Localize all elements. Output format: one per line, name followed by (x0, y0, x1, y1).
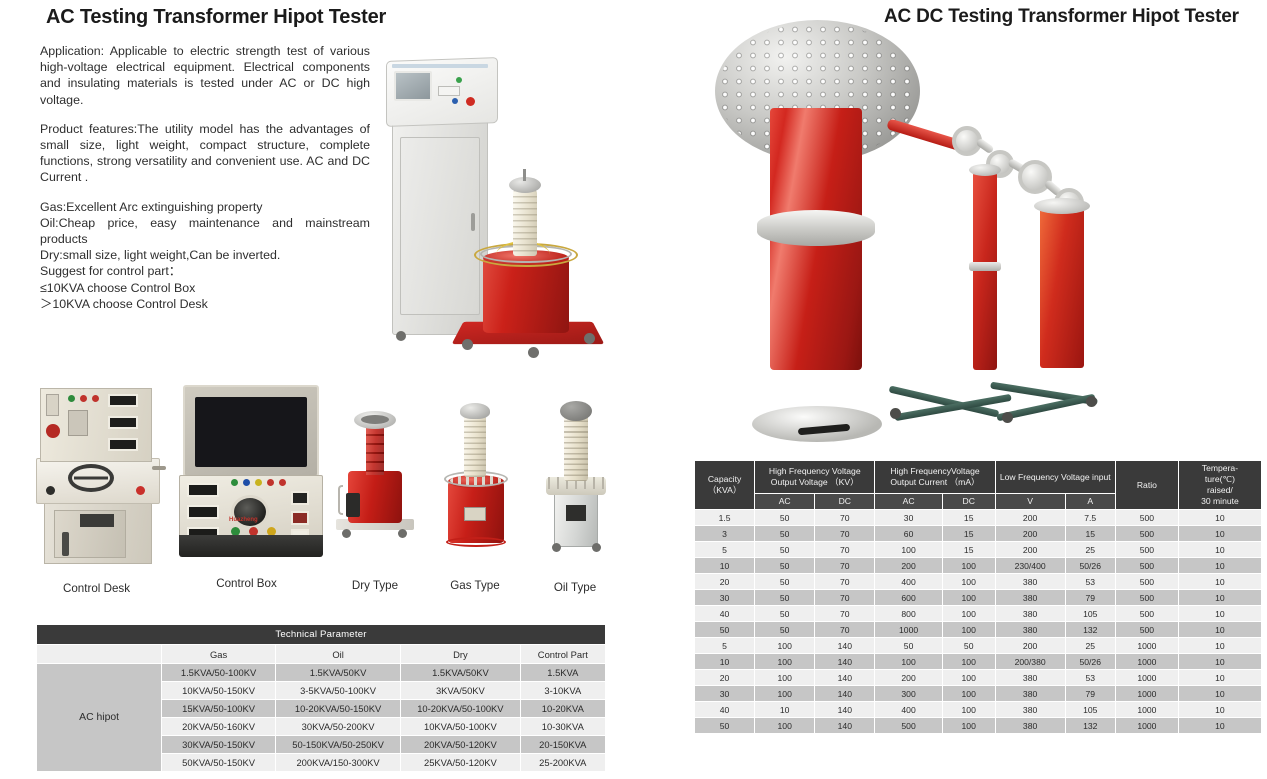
table-cell: 380 (995, 718, 1065, 734)
table-row: 3050706001003807950010 (695, 590, 1262, 606)
table-cell: 1000 (1115, 638, 1178, 654)
table-cell: 5 (695, 542, 755, 558)
table-cell: 1.5 (695, 510, 755, 526)
table-cell: 100 (942, 558, 995, 574)
table-cell: 800 (875, 606, 942, 622)
table-cell: 100 (875, 654, 942, 670)
table-cell: 1000 (1115, 670, 1178, 686)
table-cell: 3KVA/50KV (401, 682, 520, 700)
table-cell: 30 (695, 686, 755, 702)
table-row: 1.5507030152007.550010 (695, 510, 1262, 526)
table-cell: 50 (755, 510, 815, 526)
table-cell: 500 (1115, 622, 1178, 638)
table-cell: 400 (875, 702, 942, 718)
table-banner-row: Technical Parameter (37, 625, 606, 645)
table-cell: 50 (755, 622, 815, 638)
table-cell: 1.5KVA/50KV (275, 664, 400, 682)
table-cell: 3-5KVA/50-100KV (275, 682, 400, 700)
table-cell: 20-150KVA (520, 736, 605, 754)
header-temp-line3: raised/ (1207, 485, 1233, 495)
console-emergency-stop (466, 97, 475, 106)
table-cell: 200 (995, 510, 1065, 526)
bullet-dry: Dry:small size, light weight,Can be inve… (40, 247, 370, 263)
table-cell: 10-20KVA/50-100KV (401, 700, 520, 718)
header-capacity: Capacity （KVA） (695, 461, 755, 510)
table-cell: 60 (875, 526, 942, 542)
trolley-caster (584, 333, 595, 344)
table-cell: 100 (942, 686, 995, 702)
table-cell: 140 (815, 686, 875, 702)
acdc-hero-photo (690, 12, 1267, 452)
desk-regulator-handwheel (68, 464, 114, 492)
transformer-terminal-pin (523, 169, 526, 181)
box-digital-meter (187, 483, 219, 497)
thumbnail-dry-type: Dry Type (332, 389, 418, 564)
table-cell: 100 (942, 574, 995, 590)
gas-bushing (464, 415, 486, 477)
sub-header-ac: AC (755, 494, 815, 510)
table-cell: 380 (995, 574, 1065, 590)
row-header-ac-hipot: AC hipot (37, 664, 162, 772)
desk-nameplate (80, 514, 114, 527)
table-cell: 7.5 (1065, 510, 1115, 526)
table-cell: 40 (695, 606, 755, 622)
table-cell: 25 (1065, 542, 1115, 558)
table-cell: 53 (1065, 574, 1115, 590)
table-cell: 10-30KVA (520, 718, 605, 736)
header-capacity-line1: Capacity (708, 474, 741, 484)
table-cell: 500 (1115, 558, 1178, 574)
table-cell: 1000 (1115, 654, 1178, 670)
table-cell: 1.5KVA/50-100KV (162, 664, 276, 682)
hero-product-photo (370, 45, 605, 370)
table-cell: 10 (1178, 606, 1261, 622)
desk-left-knob (46, 486, 55, 495)
table-cell: 50/26 (1065, 558, 1115, 574)
table-cell: 50 (755, 526, 815, 542)
console-title-strip (392, 64, 488, 68)
table-cell: 1.5KVA/50KV (401, 664, 520, 682)
gas-nameplate (464, 507, 486, 521)
desk-indicator-red (80, 395, 87, 402)
application-paragraph: Application: Applicable to electric stre… (40, 43, 370, 108)
desk-digital-meter (108, 394, 138, 407)
rectifier-stack-cap (969, 164, 1001, 176)
table-row: 4010140400100380105100010 (695, 702, 1262, 718)
table-row: AC hipot1.5KVA/50-100KV1.5KVA/50KV1.5KVA… (37, 664, 606, 682)
header-control-part: Control Part (520, 645, 605, 664)
table-cell: 100 (942, 622, 995, 638)
table-cell: 15 (942, 526, 995, 542)
table-cell: 1000 (1115, 686, 1178, 702)
table-cell: 100 (942, 718, 995, 734)
main-column-base (752, 406, 882, 442)
table-cell: 100 (755, 670, 815, 686)
desk-emergency-stop (46, 424, 60, 438)
frame-caster (890, 408, 901, 419)
table-cell: 200 (995, 638, 1065, 654)
trolley-caster (528, 347, 539, 358)
header-blank (37, 645, 162, 664)
spec-group-header-row: Capacity （KVA） High Frequency Voltage Ou… (695, 461, 1262, 494)
table-cell: 10 (1178, 670, 1261, 686)
table-cell: 10 (1178, 686, 1261, 702)
table-cell: 500 (1115, 526, 1178, 542)
dry-caster (342, 529, 351, 538)
table-row: 2010014020010038053100010 (695, 670, 1262, 686)
dry-carry-handle (338, 485, 343, 515)
box-indicator-green (231, 479, 238, 486)
header-gas: Gas (162, 645, 276, 664)
table-cell: 79 (1065, 686, 1115, 702)
console-screen (394, 71, 432, 101)
table-cell: 380 (995, 590, 1065, 606)
box-relay-module (291, 511, 309, 525)
thumbnail-control-box: Huazheng Control Box (169, 377, 324, 565)
table-cell: 10 (1178, 574, 1261, 590)
table-cell: 3 (695, 526, 755, 542)
table-cell: 15KVA/50-100KV (162, 700, 276, 718)
table-cell: 380 (995, 670, 1065, 686)
header-capacity-line2: （KVA） (708, 485, 742, 495)
table-cell: 10 (1178, 718, 1261, 734)
box-lid-interior (195, 397, 307, 467)
box-indicator-red (279, 479, 286, 486)
table-cell: 140 (815, 638, 875, 654)
table-cell: 15 (942, 510, 995, 526)
rectifier-stack-column (973, 172, 997, 370)
table-cell: 25-200KVA (520, 754, 605, 772)
table-cell: 70 (815, 510, 875, 526)
table-cell: 1000 (875, 622, 942, 638)
header-hf-voltage: High Frequency Voltage Output Voltage （K… (755, 461, 875, 494)
table-row: 50100140500100380132100010 (695, 718, 1262, 734)
table-row: 3010014030010038079100010 (695, 686, 1262, 702)
table-cell: 50 (755, 590, 815, 606)
frame-caster (1086, 396, 1097, 407)
dry-caster (398, 529, 407, 538)
bullet-control-desk: ＞10KVA choose Control Desk (40, 296, 370, 312)
table-row: 10100140100100200/38050/26100010 (695, 654, 1262, 670)
table-cell: 132 (1065, 718, 1115, 734)
trolley-caster (462, 339, 473, 350)
table-cell: 132 (1065, 622, 1115, 638)
table-cell: 300 (875, 686, 942, 702)
gas-base-ring (446, 537, 506, 547)
table-cell: 70 (815, 590, 875, 606)
frame-caster (1002, 412, 1013, 423)
table-row: 40507080010038010550010 (695, 606, 1262, 622)
sub-header-ac: AC (875, 494, 942, 510)
table-cell: 53 (1065, 670, 1115, 686)
dry-electrode-inner (361, 415, 389, 424)
table-cell: 70 (815, 574, 875, 590)
control-desk-handle (471, 213, 475, 231)
box-indicator-yellow (255, 479, 262, 486)
table-cell: 15 (1065, 526, 1115, 542)
table-cell: 100 (942, 702, 995, 718)
left-section-title: AC Testing Transformer Hipot Tester (46, 6, 386, 29)
table-cell: 10-20KVA/50-150KV (275, 700, 400, 718)
table-cell: 200 (995, 526, 1065, 542)
table-cell: 1.5KVA (520, 664, 605, 682)
header-temp-line4: 30 minute (1201, 496, 1239, 506)
table-cell: 3-10KVA (520, 682, 605, 700)
acdc-specification-body: 1.5507030152007.550010350706015200155001… (695, 510, 1262, 734)
bullet-suggest: Suggest for control part： (40, 263, 370, 279)
table-cell: 140 (815, 718, 875, 734)
table-cell: 380 (995, 702, 1065, 718)
table-cell: 10-20KVA (520, 700, 605, 718)
product-datasheet-page: AC Testing Transformer Hipot Tester Appl… (0, 0, 1267, 779)
header-temperature: Tempera- ture(℃) raised/ 30 minute (1178, 461, 1261, 510)
box-case-bottom (179, 535, 323, 557)
table-cell: 140 (815, 670, 875, 686)
oil-bushing (564, 415, 588, 481)
capacitor-column-cap (1034, 198, 1090, 214)
table-cell: 30KVA/50-150KV (162, 736, 276, 754)
product-thumbnail-strip: Control Desk Huazheng Control Box (14, 375, 614, 590)
table-cell: 200 (995, 542, 1065, 558)
box-brand-mark: Huazheng (229, 517, 258, 523)
transformer-tank (483, 257, 569, 333)
table-cell: 50 (875, 638, 942, 654)
oil-caster (592, 543, 601, 552)
table-cell: 79 (1065, 590, 1115, 606)
table-cell: 10 (695, 654, 755, 670)
table-cell: 100 (755, 686, 815, 702)
desk-indicator-green (68, 395, 75, 402)
table-cell: 10KVA/50-150KV (162, 682, 276, 700)
table-cell: 100 (875, 542, 942, 558)
desk-indicator-red (92, 395, 99, 402)
table-cell: 400 (875, 574, 942, 590)
table-cell: 20 (695, 670, 755, 686)
desk-side-handle (152, 466, 166, 470)
table-cell: 100 (755, 638, 815, 654)
table-cell: 10 (1178, 654, 1261, 670)
table-cell: 10 (1178, 638, 1261, 654)
table-cell: 50 (695, 622, 755, 638)
desk-door-slot (62, 532, 69, 556)
table-cell: 100 (755, 718, 815, 734)
main-column-grading-ring (757, 210, 875, 246)
table-cell: 70 (815, 526, 875, 542)
table-cell: 70 (815, 606, 875, 622)
table-cell: 230/400 (995, 558, 1065, 574)
table-cell: 70 (815, 558, 875, 574)
sub-header-dc: DC (815, 494, 875, 510)
header-hf-current: High FrequencyVoltage Output Current （mA… (875, 461, 995, 494)
table-cell: 100 (942, 590, 995, 606)
table-cell: 40 (695, 702, 755, 718)
table-cell: 500 (1115, 606, 1178, 622)
table-cell: 380 (995, 606, 1065, 622)
header-ratio: Ratio (1115, 461, 1178, 510)
table-cell: 10 (1178, 590, 1261, 606)
table-row: 3507060152001550010 (695, 526, 1262, 542)
transformer-bushing (513, 190, 537, 256)
table-cell: 50 (755, 558, 815, 574)
table-cell: 140 (815, 654, 875, 670)
header-lf-input: Low Frequency Voltage input (995, 461, 1115, 494)
header-temp-line2: ture(℃) (1205, 474, 1235, 484)
box-display-window (291, 491, 309, 505)
table-cell: 50 (755, 542, 815, 558)
technical-parameter-body: AC hipot1.5KVA/50-100KV1.5KVA/50KV1.5KVA… (37, 664, 606, 772)
table-cell: 100 (942, 670, 995, 686)
table-cell: 380 (995, 686, 1065, 702)
table-cell: 50KVA/50-150KV (162, 754, 276, 772)
table-cell: 50-150KVA/50-250KV (275, 736, 400, 754)
table-row: 5100140505020025100010 (695, 638, 1262, 654)
desk-right-knob (136, 486, 145, 495)
caption-oil-type: Oil Type (505, 581, 645, 594)
header-dry: Dry (401, 645, 520, 664)
dry-winding-window (346, 493, 360, 517)
bullet-oil: Oil:Cheap price, easy maintenance and ma… (40, 215, 370, 247)
table-row: 505070100010038013250010 (695, 622, 1262, 638)
control-desk-door (400, 137, 480, 315)
table-cell: 30 (695, 590, 755, 606)
oil-top-electrode (560, 401, 592, 421)
table-cell: 20KVA/50-160KV (162, 718, 276, 736)
acdc-specification-table: Capacity （KVA） High Frequency Voltage Ou… (694, 460, 1262, 734)
table-cell: 50 (755, 574, 815, 590)
table-cell: 500 (875, 718, 942, 734)
caption-control-desk: Control Desk (27, 582, 167, 595)
table-row: 2050704001003805350010 (695, 574, 1262, 590)
sub-header-dc: DC (942, 494, 995, 510)
table-cell: 20KVA/50-120KV (401, 736, 520, 754)
table-cell: 200KVA/150-300KV (275, 754, 400, 772)
box-regulator-dial (231, 495, 269, 529)
table-row: 55070100152002550010 (695, 542, 1262, 558)
desk-digital-meter (108, 438, 138, 451)
header-oil: Oil (275, 645, 400, 664)
table-cell: 10 (695, 558, 755, 574)
table-row: 105070200100230/40050/2650010 (695, 558, 1262, 574)
sub-header-v: V (995, 494, 1065, 510)
table-cell: 100 (942, 606, 995, 622)
table-cell: 70 (815, 542, 875, 558)
table-header-row: Gas Oil Dry Control Part (37, 645, 606, 664)
table-cell: 5 (695, 638, 755, 654)
header-temp-line1: Tempera- (1202, 463, 1238, 473)
table-cell: 50 (695, 718, 755, 734)
table-cell: 30 (875, 510, 942, 526)
dry-insulator-column (366, 425, 384, 475)
desk-digital-meter (108, 416, 138, 429)
capacitor-column (1040, 208, 1084, 368)
table-cell: 15 (942, 542, 995, 558)
table-cell: 105 (1065, 702, 1115, 718)
table-cell: 200 (875, 670, 942, 686)
sub-header-a: A (1065, 494, 1115, 510)
features-paragraph: Product features:The utility model has t… (40, 121, 370, 186)
table-cell: 10 (1178, 702, 1261, 718)
table-cell: 500 (1115, 574, 1178, 590)
table-cell: 1000 (1115, 718, 1178, 734)
table-cell: 10KVA/50-100KV (401, 718, 520, 736)
table-cell: 200 (875, 558, 942, 574)
thumbnail-control-desk: Control Desk (24, 380, 169, 560)
oil-caster (552, 543, 561, 552)
table-cell: 500 (1115, 542, 1178, 558)
rectifier-stack-band (969, 262, 1001, 271)
table-cell: 10 (1178, 542, 1261, 558)
oil-nameplate (566, 505, 586, 521)
console-green-button (456, 77, 462, 83)
table-cell: 50/26 (1065, 654, 1115, 670)
table-cell: 500 (1115, 590, 1178, 606)
table-cell: 100 (942, 654, 995, 670)
box-digital-meter (187, 505, 219, 519)
box-indicator-blue (243, 479, 250, 486)
table-cell: 600 (875, 590, 942, 606)
table-cell: 10 (755, 702, 815, 718)
desk-analog-gauge (68, 410, 88, 436)
console-panel-window (438, 86, 460, 96)
table-cell: 380 (995, 622, 1065, 638)
bullet-gas: Gas:Excellent Arc extinguishing property (40, 199, 370, 215)
table-cell: 140 (815, 702, 875, 718)
table-cell: 20 (695, 574, 755, 590)
table-cell: 1000 (1115, 702, 1178, 718)
table-cell: 100 (755, 654, 815, 670)
thumbnail-gas-type: Gas Type (432, 385, 518, 565)
table-cell: 70 (815, 622, 875, 638)
table-cell: 50 (942, 638, 995, 654)
table-cell: 30KVA/50-200KV (275, 718, 400, 736)
table-cell: 105 (1065, 606, 1115, 622)
console-blue-button (452, 98, 458, 104)
table-cell: 200/380 (995, 654, 1065, 670)
caption-control-box: Control Box (177, 577, 317, 590)
table-banner: Technical Parameter (37, 625, 606, 645)
bullet-control-box: ≤10KVA choose Control Box (40, 280, 370, 296)
table-cell: 10 (1178, 622, 1261, 638)
table-cell: 25 (1065, 638, 1115, 654)
table-cell: 10 (1178, 510, 1261, 526)
technical-parameter-table: Technical Parameter Gas Oil Dry Control … (36, 624, 606, 772)
table-cell: 500 (1115, 510, 1178, 526)
thumbnail-oil-type: Oil Type (532, 385, 618, 565)
table-cell: 10 (1178, 558, 1261, 574)
table-cell: 10 (1178, 526, 1261, 542)
desk-main-switch (46, 394, 59, 416)
table-cell: 50 (755, 606, 815, 622)
table-cell: 25KVA/50-120KV (401, 754, 520, 772)
control-desk-caster (396, 331, 406, 341)
left-description-block: Application: Applicable to electric stre… (40, 43, 370, 312)
box-indicator-red (267, 479, 274, 486)
gas-top-electrode (460, 403, 490, 419)
